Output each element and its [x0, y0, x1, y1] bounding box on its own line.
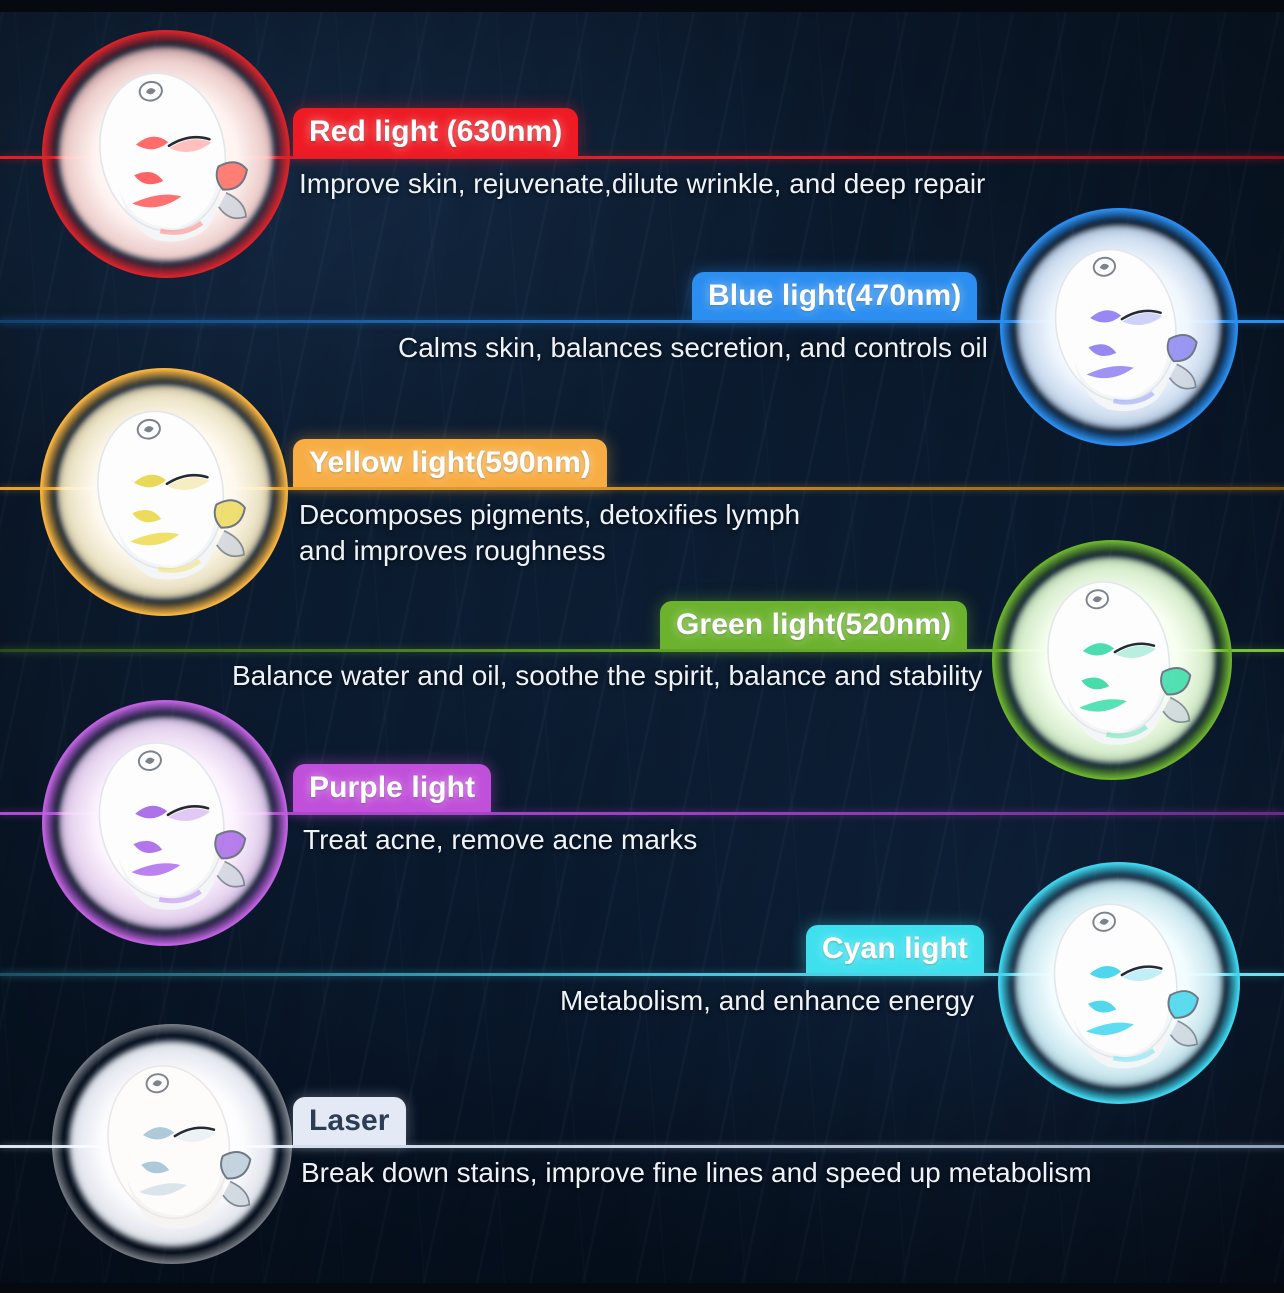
mask-illustration-purple — [42, 700, 288, 946]
tab-label-cyan: Cyan light — [822, 932, 968, 966]
description-purple: Treat acne, remove acne marks — [303, 822, 943, 858]
top-edge-bar — [0, 0, 1284, 12]
description-laser: Break down stains, improve fine lines an… — [301, 1155, 1121, 1191]
mask-illustration-cyan — [998, 862, 1240, 1104]
mask-photo-laser — [52, 1024, 292, 1264]
mask-illustration-laser — [52, 1024, 292, 1264]
bottom-edge-bar — [0, 1283, 1284, 1293]
tab-purple-light[interactable]: Purple light — [293, 764, 491, 812]
description-yellow: Decomposes pigments, detoxifies lymph an… — [299, 497, 999, 570]
mask-photo-blue — [1000, 208, 1238, 446]
mask-illustration-red — [42, 30, 290, 278]
tab-label-yellow: Yellow light(590nm) — [309, 446, 591, 480]
tab-red-light[interactable]: Red light (630nm) — [293, 108, 578, 156]
infographic-poster: Red light (630nm) Improve skin, rejuvena… — [0, 0, 1284, 1293]
tab-label-blue: Blue light(470nm) — [708, 279, 961, 313]
mask-photo-purple — [42, 700, 288, 946]
description-green: Balance water and oil, soothe the spirit… — [232, 658, 1022, 694]
tab-yellow-light[interactable]: Yellow light(590nm) — [293, 439, 607, 487]
mask-photo-red — [42, 30, 290, 278]
tab-label-laser: Laser — [309, 1104, 390, 1138]
tab-green-light[interactable]: Green light(520nm) — [660, 601, 967, 649]
tab-label-green: Green light(520nm) — [676, 608, 951, 642]
mask-photo-green — [992, 540, 1232, 780]
mask-illustration-green — [992, 540, 1232, 780]
description-blue: Calms skin, balances secretion, and cont… — [398, 330, 1018, 366]
mask-illustration-blue — [1000, 208, 1238, 446]
mask-illustration-yellow — [40, 368, 288, 616]
mask-photo-cyan — [998, 862, 1240, 1104]
tab-blue-light[interactable]: Blue light(470nm) — [692, 272, 977, 320]
mask-photo-yellow — [40, 368, 288, 616]
tab-label-red: Red light (630nm) — [309, 115, 562, 149]
tab-cyan-light[interactable]: Cyan light — [806, 925, 984, 973]
description-red: Improve skin, rejuvenate,dilute wrinkle,… — [299, 166, 1199, 202]
tab-label-purple: Purple light — [309, 771, 475, 805]
tab-laser[interactable]: Laser — [293, 1097, 406, 1145]
